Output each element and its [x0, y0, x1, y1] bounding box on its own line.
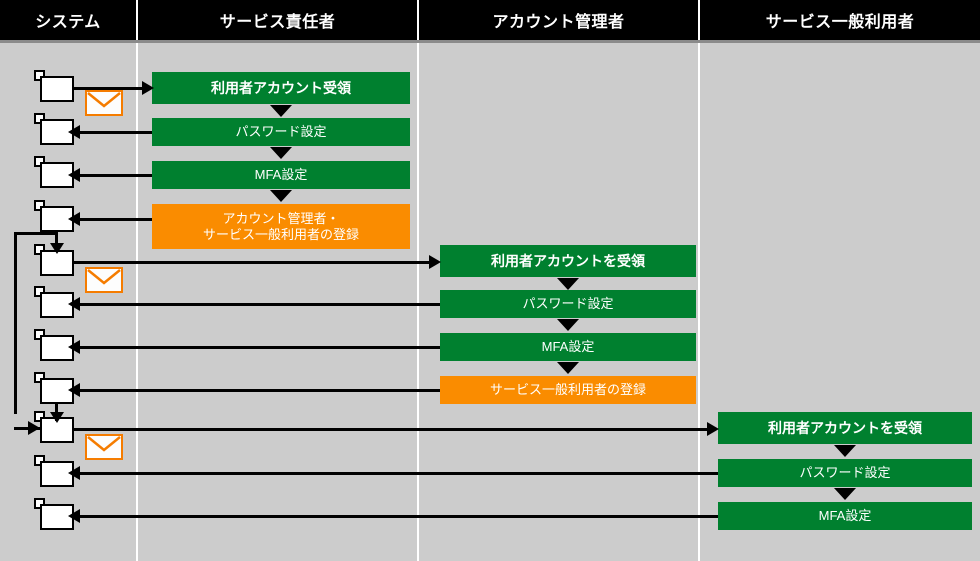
- flow-arrow-down-so-1: [270, 105, 292, 117]
- connector-sys5-to-am1: [74, 261, 432, 264]
- connector-am4-to-sys8: [80, 389, 440, 392]
- connector-gu3-to-sys11: [80, 515, 718, 518]
- step-account-manager-register-users[interactable]: サービス一般利用者の登録: [440, 376, 696, 404]
- step-general-user-receive-account[interactable]: 利用者アカウントを受領: [718, 412, 972, 444]
- connector-sys4-to-sys5-head: [50, 243, 64, 254]
- step-general-user-mfa[interactable]: MFA設定: [718, 502, 972, 530]
- connector-am2-to-sys6: [80, 303, 440, 306]
- connector-sys1-to-so1-head: [142, 81, 154, 95]
- connector-sys9-to-gu1: [74, 428, 710, 431]
- mail-icon-1-glyph: [87, 92, 121, 114]
- connector-sys9-to-gu1-head: [707, 422, 719, 436]
- connector-so4-to-sys4: [80, 218, 152, 221]
- lane-divider-2: [417, 43, 419, 561]
- step-service-owner-register-users[interactable]: アカウント管理者・ サービス一般利用者の登録: [152, 204, 410, 249]
- connector-so4-to-sys4-head: [68, 212, 80, 226]
- mail-icon-3[interactable]: [85, 434, 123, 460]
- lane-divider-1: [136, 43, 138, 561]
- connector-sys1-to-so1: [74, 87, 144, 90]
- header-divider-2: [417, 0, 419, 40]
- step-service-owner-receive-account[interactable]: 利用者アカウント受領: [152, 72, 410, 104]
- loop-1-vertical: [14, 232, 17, 414]
- step-account-manager-receive-account[interactable]: 利用者アカウントを受領: [440, 245, 696, 277]
- loop-1-head: [28, 421, 40, 435]
- lane-header-account-manager: アカウント管理者: [419, 0, 698, 40]
- connector-so2-to-sys2-head: [68, 125, 80, 139]
- step-service-owner-mfa[interactable]: MFA設定: [152, 161, 410, 189]
- connector-sys8-to-sys9-head: [50, 412, 64, 423]
- flow-arrow-down-gu-2: [834, 488, 856, 500]
- lane-divider-3: [698, 43, 700, 561]
- mail-icon-3-glyph: [87, 436, 121, 458]
- connector-so3-to-sys3: [80, 174, 152, 177]
- connector-so3-to-sys3-head: [68, 168, 80, 182]
- step-account-manager-mfa[interactable]: MFA設定: [440, 333, 696, 361]
- mail-icon-2[interactable]: [85, 267, 123, 293]
- step-account-manager-password[interactable]: パスワード設定: [440, 290, 696, 318]
- connector-gu3-to-sys11-head: [68, 509, 80, 523]
- connector-am3-to-sys7-head: [68, 340, 80, 354]
- flow-arrow-down-am-2: [557, 319, 579, 331]
- flow-arrow-down-am-1: [557, 278, 579, 290]
- connector-am4-to-sys8-head: [68, 383, 80, 397]
- lane-header-service-owner: サービス責任者: [138, 0, 417, 40]
- step-service-owner-password[interactable]: パスワード設定: [152, 118, 410, 146]
- connector-gu2-to-sys10-head: [68, 466, 80, 480]
- mail-icon-1[interactable]: [85, 90, 123, 116]
- connector-gu2-to-sys10: [80, 472, 718, 475]
- step-general-user-password[interactable]: パスワード設定: [718, 459, 972, 487]
- header-divider-1: [136, 0, 138, 40]
- lane-header-bar: システム サービス責任者 アカウント管理者 サービス一般利用者: [0, 0, 980, 40]
- mail-icon-2-glyph: [87, 269, 121, 291]
- flow-arrow-down-so-3: [270, 190, 292, 202]
- doc-icon-1[interactable]: [40, 76, 74, 102]
- lane-header-general-user: サービス一般利用者: [700, 0, 980, 40]
- flow-arrow-down-gu-1: [834, 445, 856, 457]
- connector-sys5-to-am1-head: [429, 255, 441, 269]
- flow-arrow-down-so-2: [270, 147, 292, 159]
- loop-1-top: [14, 232, 56, 235]
- header-shadow: [0, 40, 980, 43]
- flow-arrow-down-am-3: [557, 362, 579, 374]
- flow-diagram-canvas: システム サービス責任者 アカウント管理者 サービス一般利用者 利用者アカウント…: [0, 0, 980, 561]
- connector-am3-to-sys7: [80, 346, 440, 349]
- connector-so2-to-sys2: [80, 131, 152, 134]
- lane-header-system: システム: [0, 0, 136, 40]
- header-divider-3: [698, 0, 700, 40]
- connector-am2-to-sys6-head: [68, 297, 80, 311]
